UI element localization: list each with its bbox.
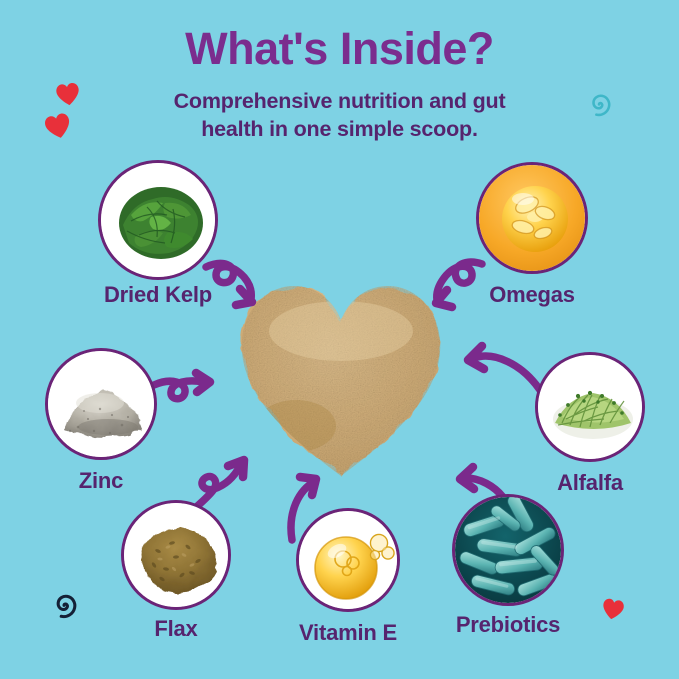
ingredient-label-alfalfa: Alfalfa	[470, 470, 679, 496]
arrow-zinc-to-center	[154, 373, 210, 399]
ingredient-label-prebiotics: Prebiotics	[388, 612, 628, 638]
prebiotics-icon	[455, 497, 561, 603]
arrow-alfalfa-to-center	[468, 346, 540, 390]
vitamin-e-icon	[299, 511, 397, 609]
ingredient-bubble-alfalfa[interactable]	[535, 352, 645, 462]
heart-icon	[44, 113, 72, 139]
ingredient-bubble-vitamin-e[interactable]	[296, 508, 400, 612]
page-subtitle-line-1: Comprehensive nutrition and gut	[0, 88, 679, 116]
dried-kelp-icon	[101, 163, 215, 277]
page-title: What's Inside?	[0, 26, 679, 71]
ingredient-label-omegas: Omegas	[412, 282, 652, 308]
page-subtitle-line-2: health in one simple scoop.	[0, 116, 679, 144]
infographic-canvas: What's Inside? Comprehensive nutrition a…	[0, 0, 679, 679]
ingredient-bubble-prebiotics[interactable]	[452, 494, 564, 606]
omegas-icon	[479, 165, 585, 271]
ingredient-label-dried-kelp: Dried Kelp	[38, 282, 278, 308]
ingredient-label-zinc: Zinc	[0, 468, 221, 494]
heart-icon	[55, 82, 81, 106]
zinc-icon	[48, 351, 154, 457]
ingredient-bubble-zinc[interactable]	[45, 348, 157, 460]
ingredient-bubble-omegas[interactable]	[476, 162, 588, 274]
ingredient-bubble-dried-kelp[interactable]	[98, 160, 218, 280]
spiral-icon	[583, 88, 615, 120]
flax-icon	[124, 503, 228, 607]
page-subtitle: Comprehensive nutrition and gut health i…	[0, 88, 679, 143]
ingredient-bubble-flax[interactable]	[121, 500, 231, 610]
alfalfa-icon	[538, 355, 642, 459]
